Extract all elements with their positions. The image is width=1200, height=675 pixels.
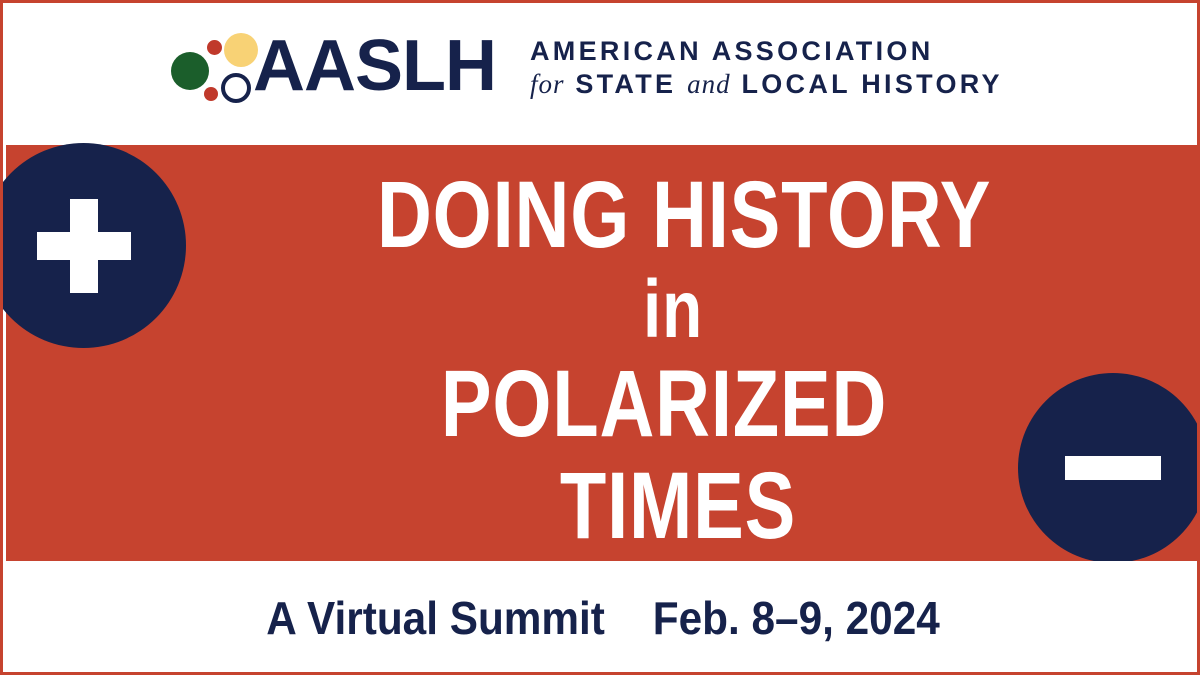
- poster-canvas: AASLH AMERICAN ASSOCIATION for STATE and…: [0, 0, 1200, 675]
- tagline-word-state: STATE: [575, 69, 676, 99]
- event-headline: DOING HISTORY in POLARIZED TIMES: [303, 163, 1043, 557]
- yellow-circle-icon: [224, 33, 258, 67]
- tagline-line-1: AMERICAN ASSOCIATION: [530, 35, 1003, 68]
- footer-details: A Virtual Summit Feb. 8–9, 2024: [266, 594, 939, 642]
- red-circle-top-icon: [207, 40, 222, 55]
- headline-line-2: in: [377, 267, 969, 353]
- header-bar: AASLH AMERICAN ASSOCIATION for STATE and…: [3, 3, 1200, 145]
- organization-tagline: AMERICAN ASSOCIATION for STATE and LOCAL…: [530, 35, 1003, 101]
- tagline-line-2: for STATE and LOCAL HISTORY: [530, 68, 1003, 101]
- red-circle-bottom-icon: [204, 87, 218, 101]
- minus-icon: [1065, 456, 1161, 480]
- tagline-word-for: for: [530, 69, 565, 99]
- aaslh-wordmark: AASLH: [253, 30, 496, 102]
- headline-line-1: DOING HISTORY: [377, 163, 969, 267]
- tagline-word-local-history: LOCAL HISTORY: [741, 69, 1002, 99]
- minus-badge: [1018, 373, 1200, 563]
- green-circle-icon: [171, 52, 209, 90]
- footer-bar: A Virtual Summit Feb. 8–9, 2024: [6, 561, 1200, 675]
- event-date-label: Feb. 8–9, 2024: [653, 594, 940, 642]
- headline-line-4: TIMES: [386, 455, 970, 557]
- logo-dot-cluster: [171, 31, 249, 103]
- navy-ring-icon: [221, 73, 251, 103]
- headline-line-3: POLARIZED: [361, 353, 967, 455]
- tagline-word-and: and: [687, 69, 731, 99]
- plus-icon: [37, 199, 131, 293]
- aaslh-logo-lockup: AASLH AMERICAN ASSOCIATION for STATE and…: [171, 31, 1003, 103]
- event-format-label: A Virtual Summit: [266, 594, 605, 642]
